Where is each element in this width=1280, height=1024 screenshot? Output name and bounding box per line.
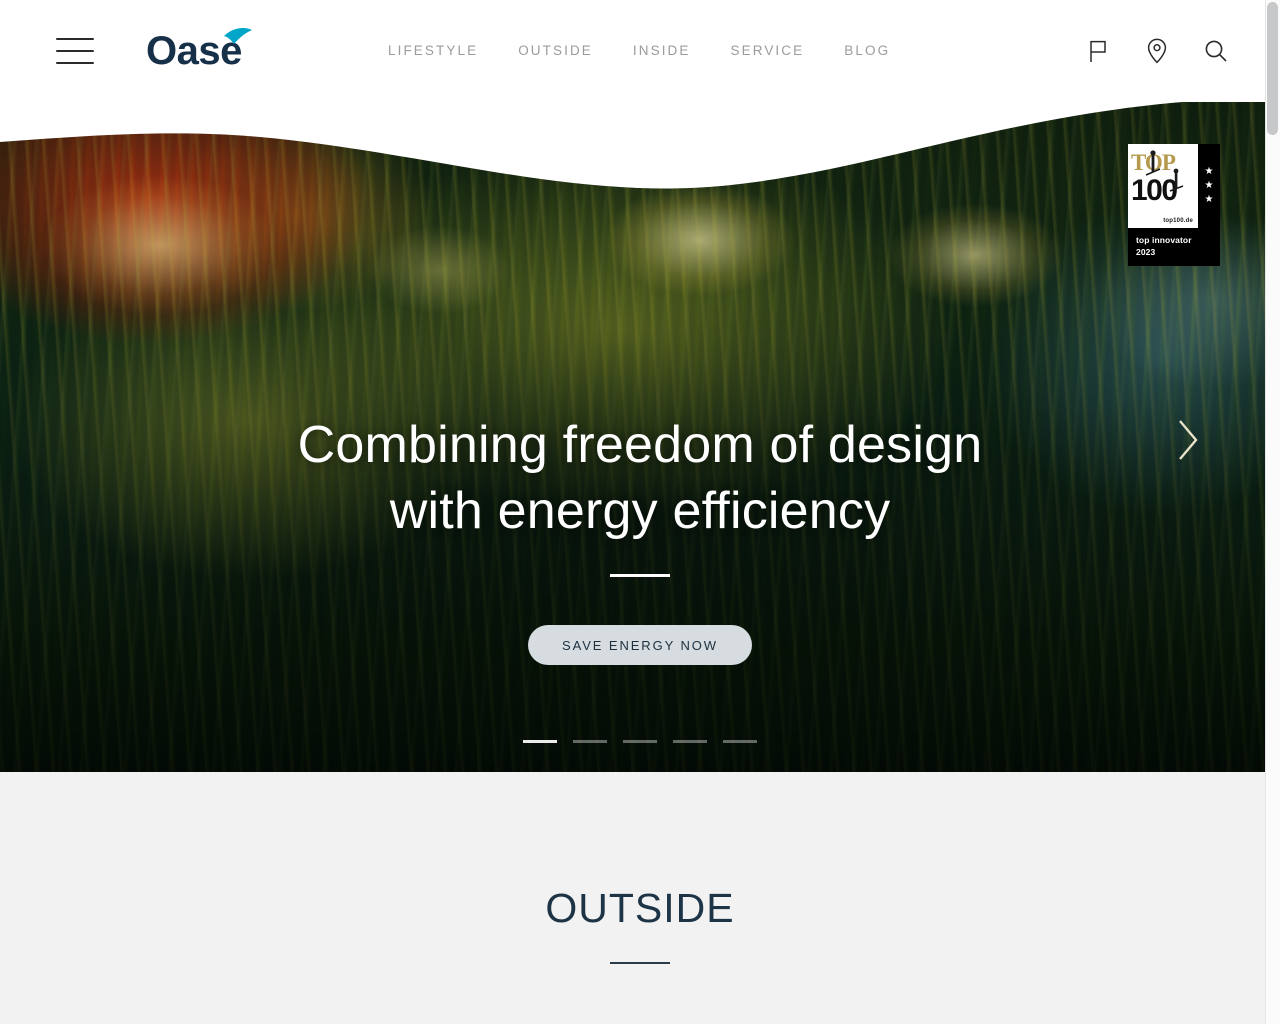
chevron-right-icon — [1177, 418, 1199, 462]
page-root: Combining freedom of design with energy … — [0, 0, 1280, 1024]
search-icon[interactable] — [1202, 36, 1230, 66]
outside-section-divider — [610, 962, 670, 964]
save-energy-now-button[interactable]: SAVE ENERGY NOW — [528, 625, 752, 665]
hamburger-bar-3 — [56, 62, 94, 64]
hero-carousel: Combining freedom of design with energy … — [0, 0, 1280, 772]
nav-item-lifestyle[interactable]: LIFESTYLE — [388, 42, 498, 60]
badge-caption: top innovator 2023 — [1128, 228, 1220, 266]
badge-star-3: ★ — [1205, 195, 1214, 205]
badge-caption-line-1: top innovator — [1136, 234, 1212, 246]
oase-logo-icon: Oase — [146, 24, 258, 76]
site-header: Oase LIFESTYLE OUTSIDE INSIDE SERVICE BL… — [0, 0, 1280, 102]
hamburger-menu-icon[interactable] — [56, 38, 94, 64]
hero-content: Combining freedom of design with energy … — [0, 0, 1280, 772]
badge-upper: TOP 100 top100.de ★ ★ ★ — [1128, 144, 1220, 228]
badge-logo-card: TOP 100 top100.de — [1128, 144, 1198, 228]
badge-figures-icon — [1128, 144, 1198, 228]
page-scrollbar-track[interactable] — [1265, 0, 1280, 1024]
nav-item-outside[interactable]: OUTSIDE — [498, 42, 613, 60]
badge-url: top100.de — [1163, 218, 1193, 224]
nav-item-blog[interactable]: BLOG — [824, 42, 910, 60]
main-navigation: LIFESTYLE OUTSIDE INSIDE SERVICE BLOG — [388, 42, 910, 60]
hero-title-divider — [610, 574, 670, 577]
badge-stars: ★ ★ ★ — [1198, 144, 1220, 228]
carousel-next-button[interactable] — [1168, 410, 1208, 470]
badge-star-1: ★ — [1205, 167, 1214, 177]
page-scrollbar-thumb[interactable] — [1267, 2, 1278, 135]
header-icon-group — [1084, 36, 1230, 66]
hero-title-line-1: Combining freedom of design — [140, 412, 1140, 478]
oase-logo[interactable]: Oase — [146, 24, 258, 76]
badge-caption-line-2: 2023 — [1136, 246, 1212, 258]
hamburger-bar-1 — [56, 38, 94, 40]
outside-section-title: OUTSIDE — [545, 884, 734, 932]
hero-title: Combining freedom of design with energy … — [140, 412, 1140, 544]
flag-icon[interactable] — [1084, 36, 1112, 66]
hero-title-line-2: with energy efficiency — [140, 478, 1140, 544]
badge-star-2: ★ — [1205, 181, 1214, 191]
hamburger-bar-2 — [56, 50, 94, 52]
nav-item-inside[interactable]: INSIDE — [613, 42, 711, 60]
location-pin-icon[interactable] — [1143, 36, 1171, 66]
top100-innovator-badge[interactable]: TOP 100 top100.de ★ ★ ★ top innovator — [1128, 144, 1220, 266]
nav-item-service[interactable]: SERVICE — [711, 42, 825, 60]
outside-section: OUTSIDE — [0, 772, 1280, 1024]
